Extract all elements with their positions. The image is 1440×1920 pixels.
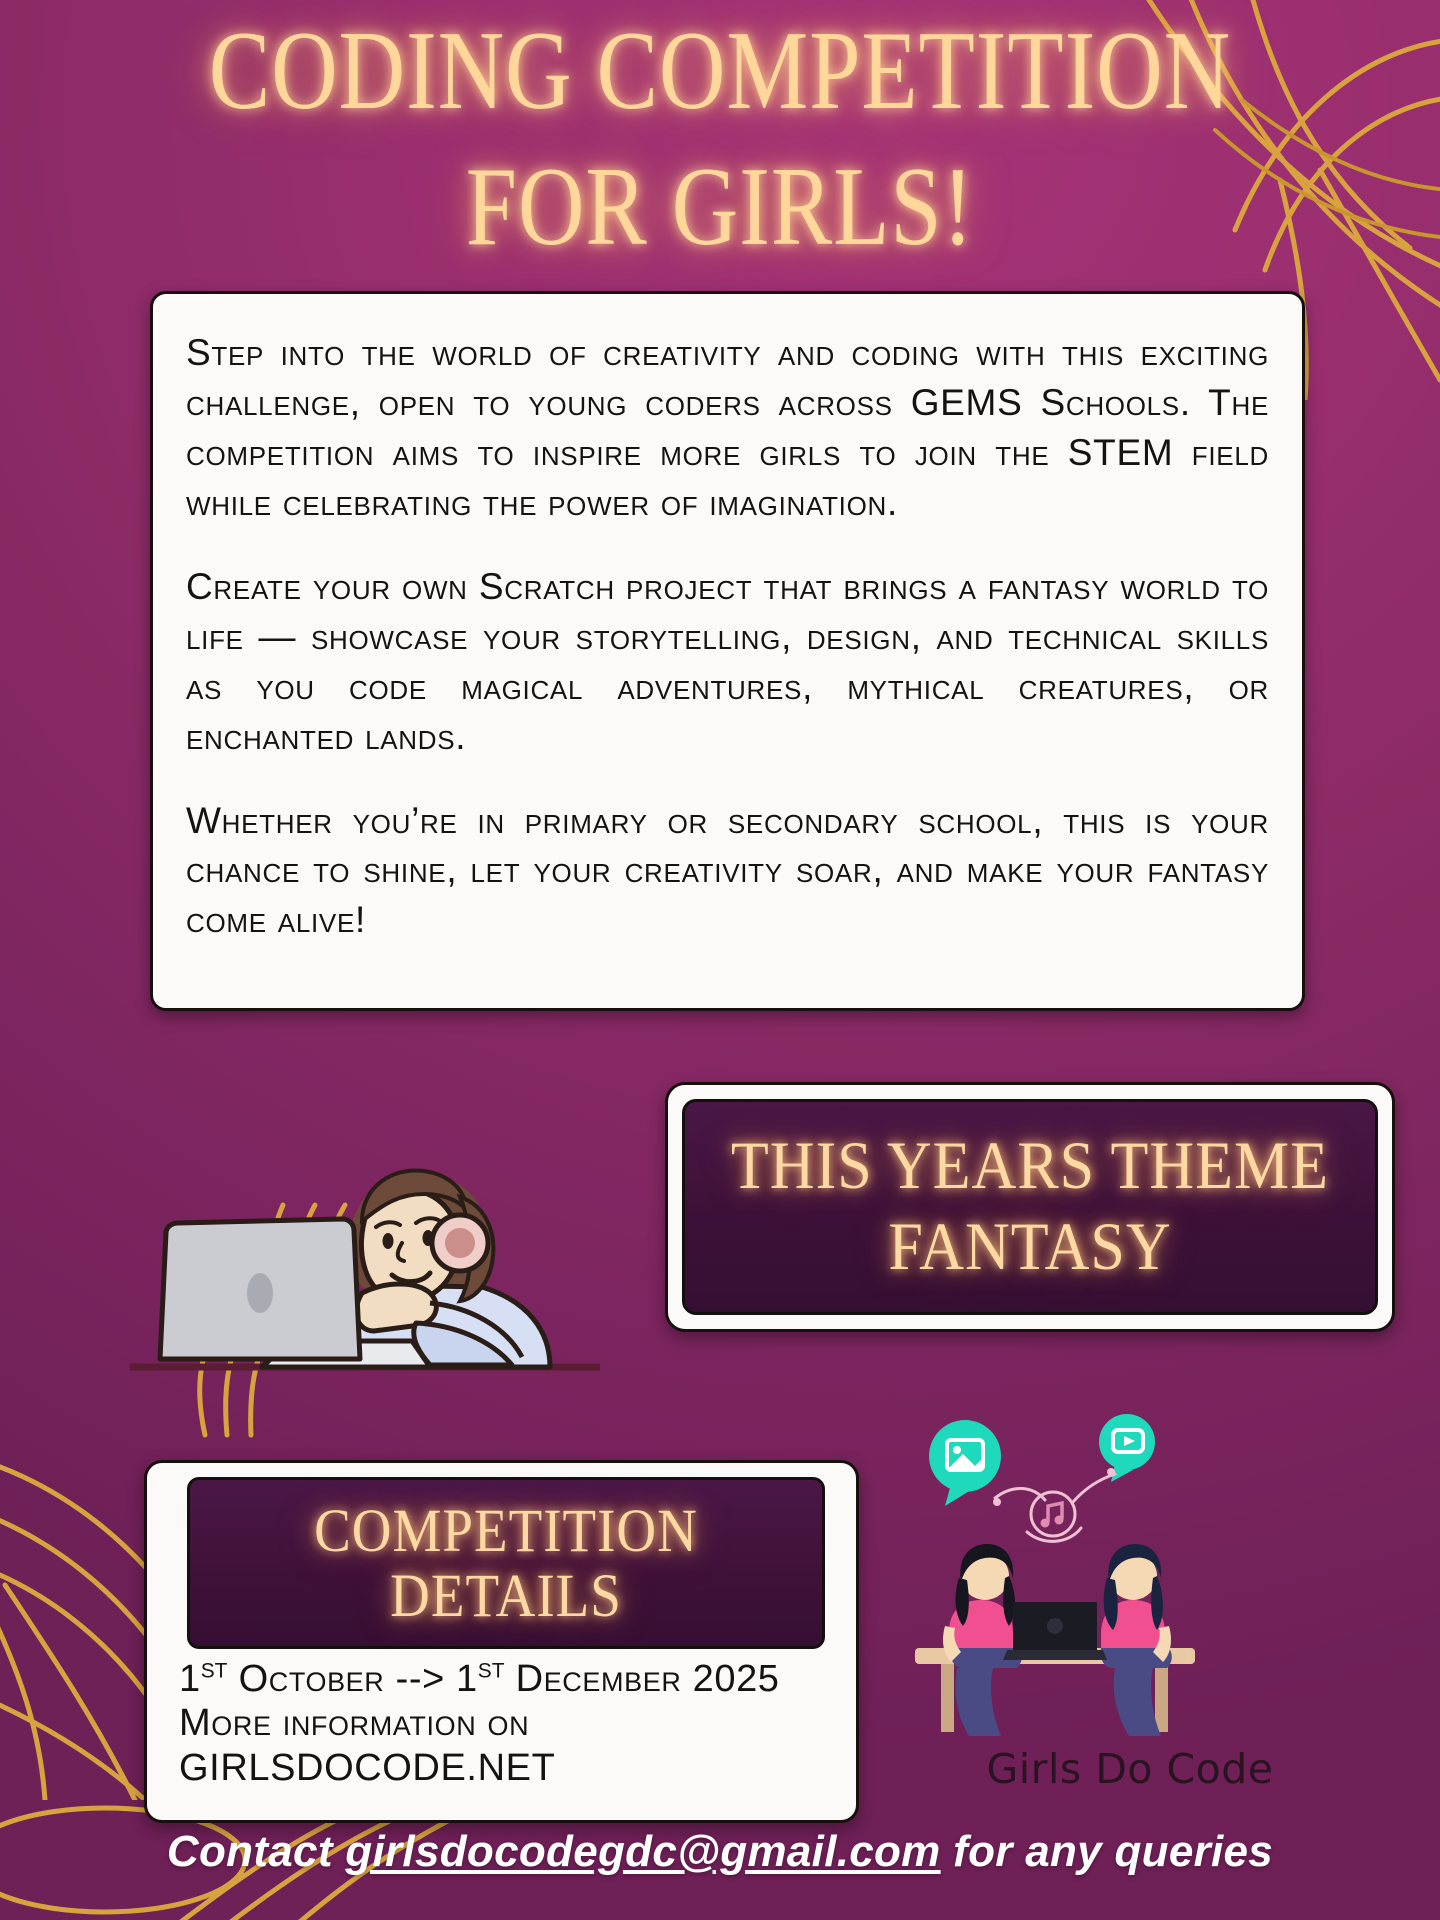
logo-caption: Girls Do Code bbox=[930, 1745, 1330, 1793]
details-banner: COMPETITION DETAILS bbox=[187, 1477, 825, 1649]
theme-card-inner: THIS YEARS THEME FANTASY bbox=[682, 1099, 1378, 1315]
poster-canvas: CODING COMPETITION FOR GIRLS! Step into … bbox=[0, 0, 1440, 1920]
date-arrow: --> bbox=[396, 1658, 445, 1700]
competition-details-card: COMPETITION DETAILS 1ST October --> 1ST … bbox=[144, 1460, 859, 1823]
speech-bubble-music bbox=[1031, 1492, 1075, 1536]
poster-title: CODING COMPETITION FOR GIRLS! bbox=[0, 14, 1440, 244]
description-card: Step into the world of creativity and co… bbox=[150, 291, 1305, 1011]
date-end-suffix: ST bbox=[478, 1659, 505, 1682]
date-start-suffix: ST bbox=[201, 1659, 228, 1682]
title-line-1: CODING COMPETITION bbox=[0, 14, 1440, 128]
footer-prefix: Contact bbox=[167, 1827, 345, 1876]
date-start-day: 1 bbox=[179, 1658, 201, 1700]
footer-suffix: for any queries bbox=[941, 1827, 1273, 1876]
logo-girl-right bbox=[1025, 1544, 1172, 1736]
theme-value: FANTASY bbox=[888, 1208, 1171, 1286]
footer-email[interactable]: girlsdocodegdc@gmail.com bbox=[345, 1827, 940, 1876]
details-website[interactable]: GIRLSDOCODE.NET bbox=[179, 1746, 844, 1790]
speech-bubble-image bbox=[929, 1420, 1001, 1506]
date-start-month: October bbox=[239, 1658, 385, 1700]
date-end-month: December bbox=[516, 1658, 682, 1700]
girl-with-laptop-illustration bbox=[130, 1135, 610, 1420]
details-heading-line-2: DETAILS bbox=[390, 1560, 622, 1631]
description-paragraph-3: Whether you’re in primary or secondary s… bbox=[186, 796, 1269, 946]
date-year: 2025 bbox=[693, 1658, 780, 1700]
title-line-2: FOR GIRLS! bbox=[0, 150, 1440, 264]
theme-card: THIS YEARS THEME FANTASY bbox=[665, 1082, 1395, 1332]
theme-heading: THIS YEARS THEME bbox=[731, 1127, 1329, 1205]
details-info-line: More information on bbox=[179, 1701, 844, 1745]
date-end-day: 1 bbox=[456, 1658, 478, 1700]
footer-contact: Contact girlsdocodegdc@gmail.com for any… bbox=[0, 1827, 1440, 1877]
description-paragraph-1: Step into the world of creativity and co… bbox=[186, 328, 1269, 528]
details-date-range: 1ST October --> 1ST December 2025 bbox=[179, 1657, 844, 1701]
details-heading-line-1: COMPETITION bbox=[314, 1495, 698, 1566]
girls-do-code-illustration bbox=[905, 1410, 1205, 1745]
description-paragraph-2: Create your own Scratch project that bri… bbox=[186, 562, 1269, 762]
